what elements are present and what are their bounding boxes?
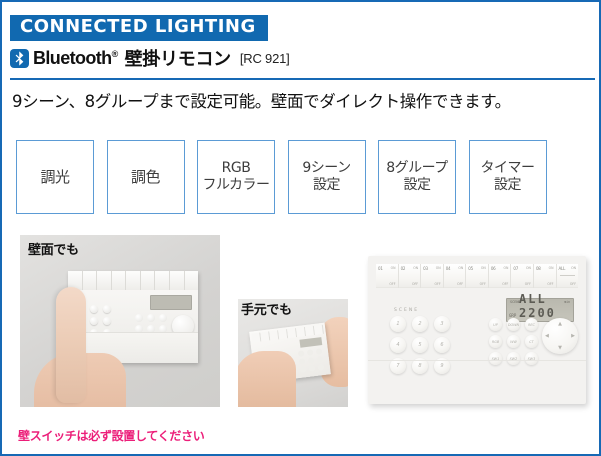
- scene-key: [103, 317, 111, 325]
- lcd-value: ALL 2200: [519, 292, 573, 320]
- group-key-off: OFF: [389, 282, 395, 286]
- keypad-key: [299, 358, 306, 365]
- product-group-key-07: 07 ON OFF: [511, 264, 534, 288]
- registered-mark: ®: [112, 49, 118, 59]
- lead-description: 9シーン、8グループまで設定可能。壁面でダイレクト操作できます。: [12, 88, 511, 112]
- scene-key-6: 6: [434, 337, 450, 353]
- function-key-rec: REC: [525, 318, 538, 331]
- group-key: [141, 271, 156, 290]
- scene-key: [90, 305, 98, 313]
- group-key-on: ON: [391, 266, 396, 270]
- feature-label-line1: 8グループ: [386, 160, 448, 176]
- group-key-number: 08: [536, 266, 541, 271]
- product-spec-page: CONNECTED LIGHTING Bluetooth® 壁掛リモコン [RC…: [0, 0, 601, 456]
- feature-label-line2: 設定: [313, 177, 340, 193]
- scene-key-1: 1: [390, 316, 406, 332]
- keypad-key: [309, 365, 316, 372]
- group-key-number: 04: [446, 266, 451, 271]
- feature-label-line1: 調光: [40, 168, 69, 186]
- group-key: [170, 271, 185, 290]
- scene-key-2: 2: [412, 316, 428, 332]
- product-group-key-02: 02 ON OFF: [399, 264, 422, 288]
- group-key-number: ALL: [559, 266, 566, 271]
- group-key-separator: [560, 275, 576, 276]
- group-key-off: OFF: [570, 282, 576, 286]
- function-key-ct: CT: [525, 335, 538, 348]
- group-key-number: 06: [491, 266, 496, 271]
- wall-remote-device: [68, 271, 198, 363]
- hand-left-illustration: [238, 351, 296, 407]
- function-key: [135, 314, 143, 322]
- scene-key-4: 4: [390, 337, 406, 353]
- scene-key-3: 3: [434, 316, 450, 332]
- scene-key-5: 5: [412, 337, 428, 353]
- group-key-on: ON: [503, 266, 508, 270]
- finger-illustration: [56, 287, 86, 403]
- group-key-off: OFF: [547, 282, 553, 286]
- function-key-sw1: SW1: [489, 352, 502, 365]
- group-key-off: OFF: [502, 282, 508, 286]
- group-key-number: 02: [401, 266, 406, 271]
- category-banner: CONNECTED LIGHTING: [10, 15, 268, 41]
- bluetooth-brand-text: Bluetooth: [33, 48, 112, 68]
- product-scene-keypad: 1 2 3 4 5 6 7 8 9: [390, 316, 452, 374]
- group-key-on: ON: [413, 266, 418, 270]
- group-key: [112, 271, 127, 290]
- wall-device-lcd: [150, 295, 192, 310]
- keypad-key: [298, 350, 305, 357]
- group-key-off: OFF: [435, 282, 441, 286]
- photo-label-hand: 手元でも: [241, 299, 292, 318]
- group-key-on: ON: [481, 266, 486, 270]
- group-key: [185, 271, 199, 290]
- group-key-on: ON: [526, 266, 531, 270]
- group-key-number: 01: [378, 266, 383, 271]
- feature-label-line2: 設定: [403, 177, 430, 193]
- group-key-off: OFF: [457, 282, 463, 286]
- product-group-key-08: 08 ON OFF: [534, 264, 557, 288]
- product-group-key-row: 01 ON OFF 02 ON OFF 03 ON OFF 04 ON OFF …: [376, 264, 578, 288]
- feature-label-line2: 設定: [494, 177, 521, 193]
- product-group-key-all: ALL ON OFF: [557, 264, 579, 288]
- handheld-keypad: [298, 348, 325, 373]
- feature-box-list: 調光 調色 RGBフルカラー 9シーン設定 8グループ設定 タイマー設定: [16, 140, 547, 214]
- group-key: [126, 271, 141, 290]
- dpad-down-icon: ▼: [558, 345, 562, 351]
- function-key: [159, 314, 167, 322]
- group-key: [314, 325, 324, 335]
- product-group-key-01: 01 ON OFF: [376, 264, 399, 288]
- product-group-key-03: 03 ON OFF: [421, 264, 444, 288]
- feature-box-8-group: 8グループ設定: [378, 140, 456, 214]
- product-title-row: Bluetooth® 壁掛リモコン [RC 921]: [10, 45, 290, 71]
- function-key-ww: WW: [507, 335, 520, 348]
- scene-section-label: SCENE: [394, 308, 419, 313]
- handheld-lcd: [299, 337, 322, 348]
- keypad-key: [316, 348, 323, 355]
- feature-label-line1: 9シーン: [302, 160, 350, 176]
- feature-label-line1: RGB: [222, 160, 251, 176]
- group-key-off: OFF: [525, 282, 531, 286]
- function-key-up: UP: [489, 318, 502, 331]
- product-group-key-04: 04 ON OFF: [444, 264, 467, 288]
- keypad-key: [307, 349, 314, 356]
- group-key-on: ON: [436, 266, 441, 270]
- keypad-key: [317, 356, 324, 363]
- group-key: [155, 271, 170, 290]
- bluetooth-wordmark: Bluetooth®: [33, 48, 118, 69]
- photo-product-detail: 01 ON OFF 02 ON OFF 03 ON OFF 04 ON OFF …: [368, 256, 586, 404]
- keypad-key: [308, 357, 315, 364]
- photo-label-wall: 壁面でも: [28, 239, 79, 258]
- scene-key: [90, 317, 98, 325]
- group-key: [97, 271, 112, 290]
- group-key-on: ON: [549, 266, 554, 270]
- group-key-number: 07: [513, 266, 518, 271]
- photo-wall-mounted: 壁面でも: [20, 235, 220, 407]
- product-function-keypad: UP DOWN REC RGB WW CT SW1 SW2 SW3: [489, 318, 540, 365]
- installation-warning-note: 壁スイッチは必ず設置してください: [18, 427, 204, 444]
- function-key-rgb: RGB: [489, 335, 502, 348]
- product-group-key-06: 06 ON OFF: [489, 264, 512, 288]
- function-key-down: DOWN: [507, 318, 520, 331]
- keypad-key: [300, 366, 307, 373]
- feature-box-timer: タイマー設定: [469, 140, 547, 214]
- group-key-number: 03: [423, 266, 428, 271]
- keypad-key: [318, 364, 325, 371]
- group-key-number: 05: [468, 266, 473, 271]
- feature-box-rgb-full-color: RGBフルカラー: [197, 140, 275, 214]
- feature-box-9-scene: 9シーン設定: [288, 140, 366, 214]
- group-key-off: OFF: [412, 282, 418, 286]
- feature-box-dimming: 調光: [16, 140, 94, 214]
- product-group-key-05: 05 ON OFF: [466, 264, 489, 288]
- group-key-off: OFF: [480, 282, 486, 286]
- feature-box-color-temp: 調色: [107, 140, 185, 214]
- group-key-on: ON: [571, 266, 576, 270]
- dpad-left-icon: ◀: [545, 333, 549, 339]
- function-key-sw2: SW2: [507, 352, 520, 365]
- bluetooth-icon: [10, 49, 29, 68]
- dpad-right-icon: ▶: [571, 333, 575, 339]
- group-key: [83, 271, 98, 290]
- dpad-up-icon: ▲: [558, 321, 562, 327]
- page-title: 壁掛リモコン: [125, 45, 231, 71]
- wall-device-group-keys: [68, 271, 198, 290]
- header-divider: [10, 78, 595, 80]
- model-number: [RC 921]: [240, 51, 290, 66]
- product-panel-divider: [368, 360, 586, 361]
- scene-key: [103, 305, 111, 313]
- feature-label-line2: フルカラー: [202, 177, 269, 193]
- product-dpad: ▲ ▶ ▼ ◀: [542, 318, 578, 354]
- feature-label-line1: 調色: [131, 168, 160, 186]
- feature-label-line1: タイマー: [481, 160, 535, 176]
- group-key-on: ON: [458, 266, 463, 270]
- function-key-sw3: SW3: [525, 352, 538, 365]
- function-key: [147, 314, 155, 322]
